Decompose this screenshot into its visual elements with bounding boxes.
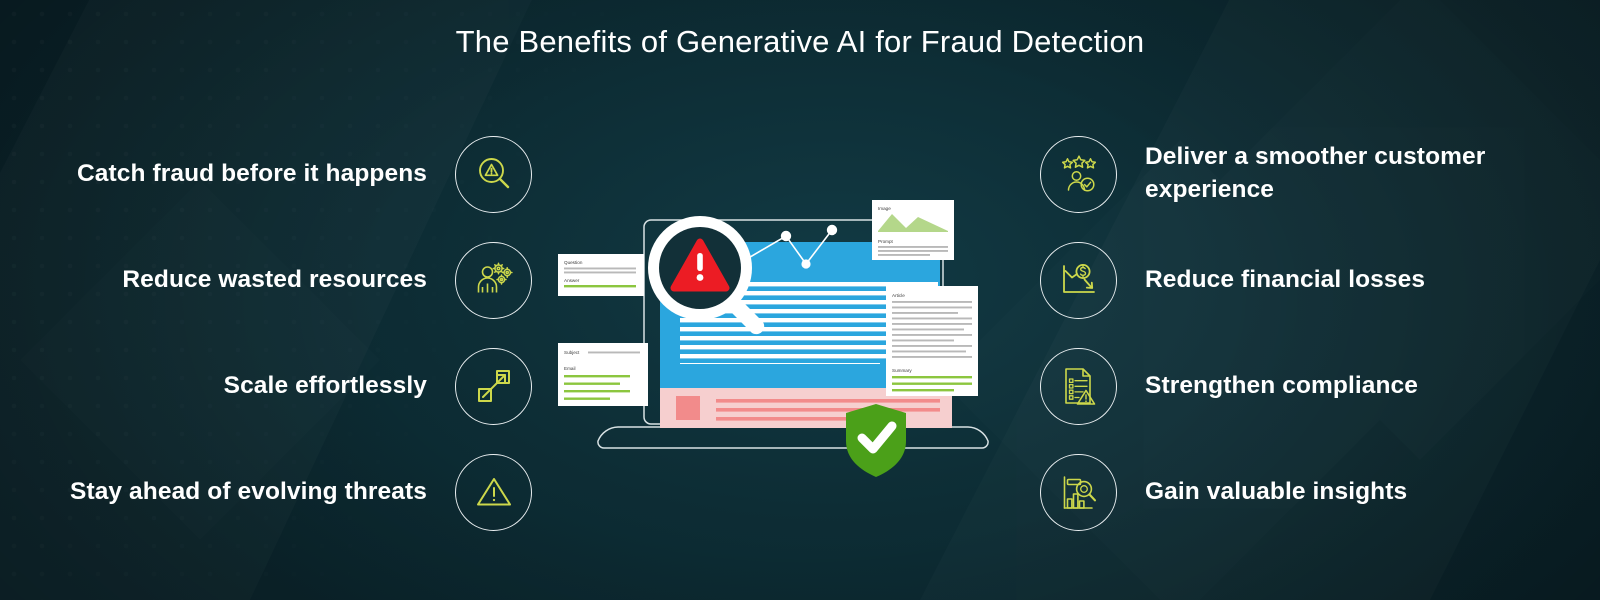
laptop-genai-fraud-detection-illustration: Question Answer Subject Email Image Prom…: [556, 138, 1026, 478]
benefit-label: Gain valuable insights: [1145, 476, 1407, 509]
green-shield-check: [846, 404, 906, 477]
benefit-item-compliance[interactable]: Strengthen compliance: [1040, 340, 1550, 432]
benefits-left-column: Catch fraud before it happens Reduce was…: [22, 128, 532, 552]
benefit-item-scale[interactable]: Scale effortlessly: [22, 340, 532, 432]
benefit-item-reduce-waste[interactable]: Reduce wasted resources: [22, 234, 532, 326]
benefit-label: Strengthen compliance: [1145, 370, 1418, 403]
bar-chart-magnifier-icon: [1040, 454, 1117, 531]
card-label: Subject: [564, 350, 580, 355]
benefit-item-catch-fraud[interactable]: Catch fraud before it happens: [22, 128, 532, 220]
benefit-item-financial-losses[interactable]: Reduce financial losses: [1040, 234, 1550, 326]
card-label: Article: [892, 293, 905, 298]
benefit-label: Reduce wasted resources: [122, 264, 427, 297]
card-label: Prompt: [878, 239, 894, 244]
expand-arrow-icon: [455, 348, 532, 425]
stars-user-check-icon: [1040, 136, 1117, 213]
subject-email-card: Subject Email: [558, 343, 648, 406]
benefit-label: Catch fraud before it happens: [77, 158, 427, 191]
document-checklist-warning-icon: [1040, 348, 1117, 425]
card-label: Image: [878, 206, 891, 211]
benefit-label: Deliver a smoother customer experience: [1145, 141, 1535, 206]
image-prompt-card: Image Prompt: [872, 200, 954, 260]
card-label: Question: [564, 260, 583, 265]
benefits-right-column: Deliver a smoother customer experience R…: [1040, 128, 1550, 552]
benefit-item-customer-experience[interactable]: Deliver a smoother customer experience: [1040, 128, 1550, 220]
benefit-item-insights[interactable]: Gain valuable insights: [1040, 446, 1550, 538]
page-title: The Benefits of Generative AI for Fraud …: [0, 24, 1600, 60]
card-label: Summary: [892, 368, 912, 373]
question-answer-card: Question Answer: [558, 254, 644, 296]
benefit-label: Reduce financial losses: [1145, 264, 1425, 297]
magnifier-warning-icon: [455, 136, 532, 213]
article-summary-card: Article Summary: [886, 286, 978, 396]
benefit-label: Scale effortlessly: [224, 370, 427, 403]
warning-triangle-icon: [455, 454, 532, 531]
person-gears-icon: [455, 242, 532, 319]
declining-chart-dollar-icon: [1040, 242, 1117, 319]
card-label: Email: [564, 366, 576, 371]
card-label: Answer: [564, 278, 580, 283]
benefit-label: Stay ahead of evolving threats: [70, 476, 427, 509]
benefit-item-threats[interactable]: Stay ahead of evolving threats: [22, 446, 532, 538]
